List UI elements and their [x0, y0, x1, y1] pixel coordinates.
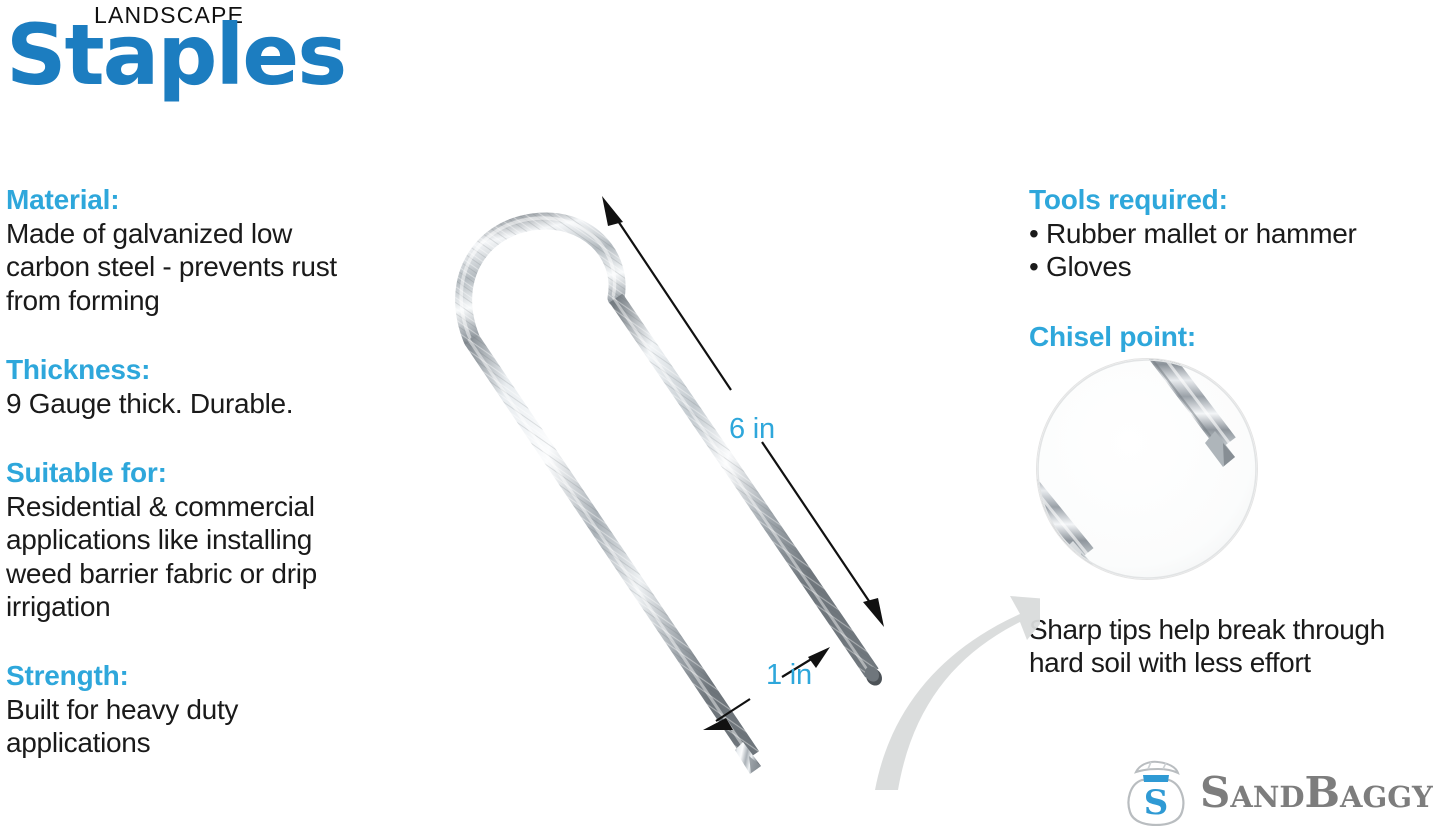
feature-strength: Strength: Built for heavy duty applicati… [6, 659, 406, 760]
feature-line: Made of galvanized low [6, 217, 406, 250]
spacer [6, 333, 406, 353]
product-figure [420, 150, 1040, 790]
caption-line: hard soil with less effort [1029, 646, 1445, 679]
feature-line: carbon steel - prevents rust [6, 250, 406, 283]
length-dimension-arrow [602, 196, 884, 627]
feature-material: Material: Made of galvanized low carbon … [6, 183, 406, 317]
feature-line: irrigation [6, 590, 406, 623]
bag-letter: S [1144, 783, 1169, 823]
right-feature-column: Tools required: • Rubber mallet or hamme… [1029, 183, 1445, 370]
feature-tools-required: Tools required: • Rubber mallet or hamme… [1029, 183, 1445, 284]
feature-line: applications like installing [6, 523, 406, 556]
feature-line: from forming [6, 284, 406, 317]
feature-heading: Suitable for: [6, 456, 406, 490]
feature-body: Residential & commercial applications li… [6, 490, 406, 623]
brand-wordmark: SandBaggy [1200, 766, 1433, 821]
feature-chisel-point: Chisel point: [1029, 320, 1445, 354]
product-logo: LANDSCAPE Staples [6, 2, 386, 114]
staple-left-leg [469, 339, 762, 774]
arrowhead-up [602, 196, 623, 226]
sandbag-icon: S [1118, 760, 1194, 826]
feature-heading: Thickness: [6, 353, 406, 387]
staple-illustration [420, 150, 1040, 790]
caption-line: Sharp tips help break through [1029, 613, 1445, 646]
staple-bend [461, 218, 617, 340]
feature-heading: Chisel point: [1029, 320, 1445, 354]
feature-line: weed barrier fabric or drip [6, 557, 406, 590]
length-dimension-label: 6 in [729, 413, 775, 446]
feature-body: • Rubber mallet or hammer • Gloves [1029, 217, 1445, 283]
feature-line: applications [6, 726, 406, 759]
feature-line: Residential & commercial [6, 490, 406, 523]
feature-line: 9 Gauge thick. Durable. [6, 387, 406, 420]
feature-line: Built for heavy duty [6, 693, 406, 726]
chisel-point-closeup [1037, 359, 1257, 579]
bullet-item: • Gloves [1029, 250, 1445, 283]
feature-body: Built for heavy duty applications [6, 693, 406, 759]
bullet-item: • Rubber mallet or hammer [1029, 217, 1445, 250]
brand-logo: S SandBaggy [1118, 760, 1442, 826]
curved-arrow [875, 596, 1040, 790]
staple-right-leg [613, 297, 885, 689]
chisel-point-inset [1036, 358, 1258, 580]
infographic-page: LANDSCAPE Staples Material: Made of galv… [0, 0, 1445, 829]
spacer [1029, 300, 1445, 320]
inset-caption: Sharp tips help break through hard soil … [1029, 613, 1445, 680]
spacer [6, 436, 406, 456]
arrowhead-down [863, 598, 884, 627]
feature-thickness: Thickness: 9 Gauge thick. Durable. [6, 353, 406, 420]
left-feature-column: Material: Made of galvanized low carbon … [6, 183, 406, 775]
spacer [6, 639, 406, 659]
feature-heading: Strength: [6, 659, 406, 693]
feature-suitable-for: Suitable for: Residential & commercial a… [6, 456, 406, 623]
width-dimension-label: 1 in [766, 659, 812, 692]
feature-body: 9 Gauge thick. Durable. [6, 387, 406, 420]
feature-body: Made of galvanized low carbon steel - pr… [6, 217, 406, 317]
logo-wordmark: Staples [6, 11, 345, 99]
feature-heading: Material: [6, 183, 406, 217]
feature-heading: Tools required: [1029, 183, 1445, 217]
